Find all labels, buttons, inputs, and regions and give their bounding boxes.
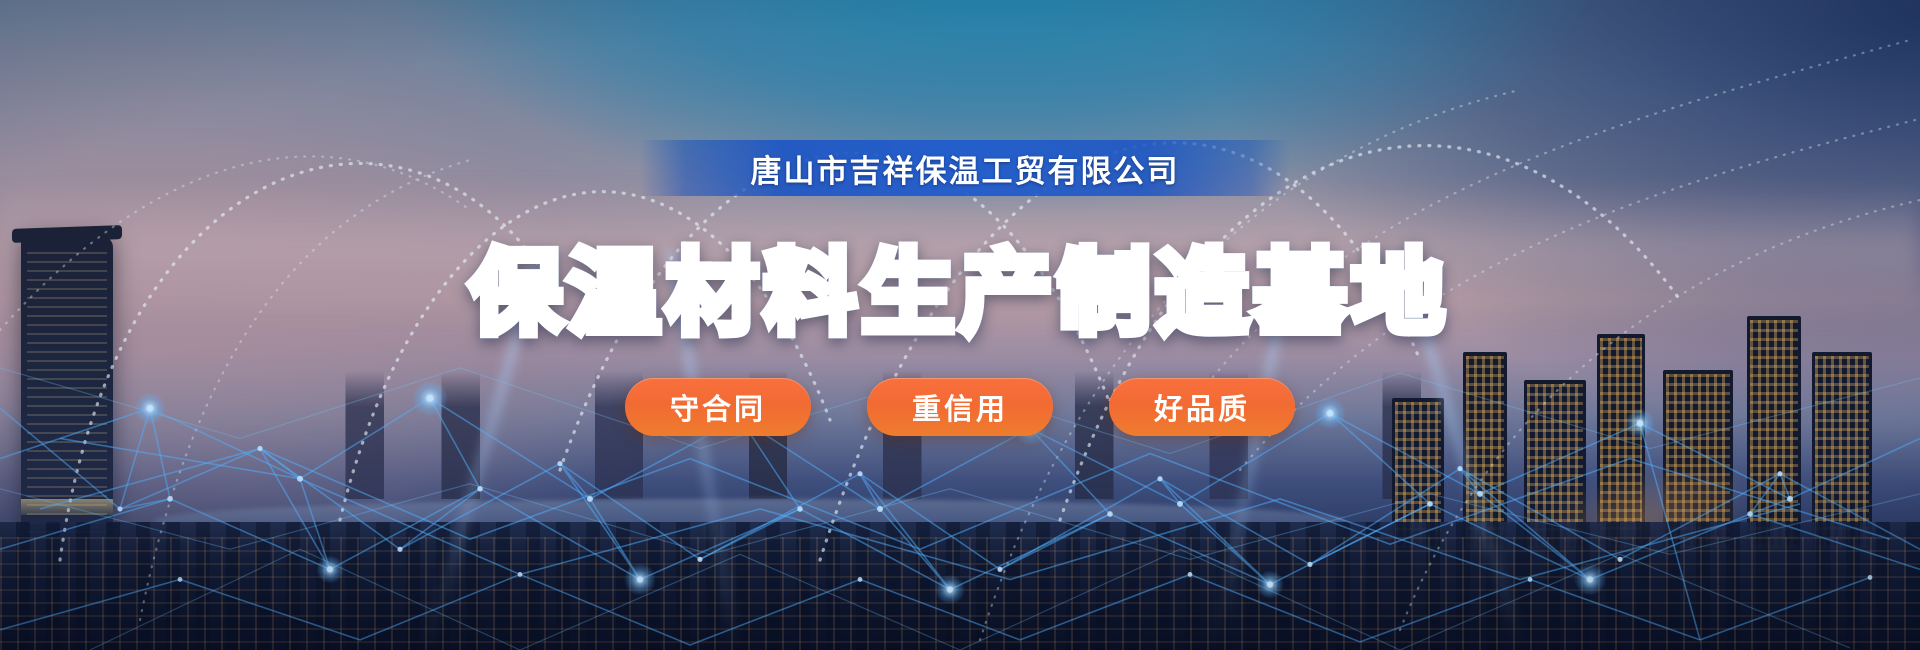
page-title: 保温材料生产制造基地 [0,248,1920,342]
badge-zhong-xin-yong[interactable]: 重信用 [867,378,1053,436]
company-name-bar: 唐山市吉祥保温工贸有限公司 [640,140,1290,196]
badge-label: 好品质 [1154,386,1250,428]
feature-badges: 守合同 重信用 好品质 [0,378,1920,436]
badge-hao-pin-zhi[interactable]: 好品质 [1109,378,1295,436]
badge-shou-he-tong[interactable]: 守合同 [625,378,811,436]
banner-content: 唐山市吉祥保温工贸有限公司 保温材料生产制造基地 保温材料生产制造基地 守合同 … [0,0,1920,650]
badge-label: 守合同 [670,386,766,428]
company-name: 唐山市吉祥保温工贸有限公司 [751,146,1180,191]
badge-label: 重信用 [912,386,1008,428]
hero-banner: .arc{fill:none;stroke:#e9f2f7;stroke-opa… [0,0,1920,650]
